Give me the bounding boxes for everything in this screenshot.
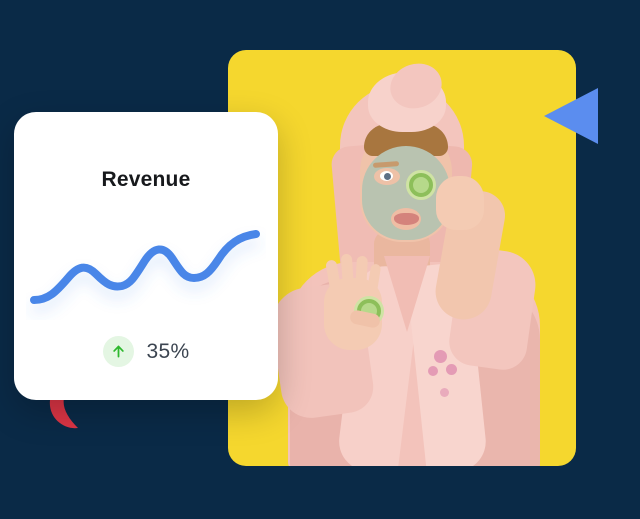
cucumber-slice-core <box>413 177 429 193</box>
triangle-accent-icon <box>544 88 598 144</box>
poster-canvas: Revenue 35% <box>0 0 640 519</box>
model-photo <box>228 50 576 466</box>
revenue-sparkline-chart <box>26 220 266 320</box>
arrow-up-icon <box>111 344 126 359</box>
sparkline-path <box>34 234 256 300</box>
robe-flower-embroidery <box>446 364 457 375</box>
robe-flower-embroidery <box>434 350 447 363</box>
revenue-change-metric: 35% <box>14 336 278 367</box>
pupil-left <box>384 173 391 180</box>
robe-flower-embroidery <box>428 366 438 376</box>
robe-flower-embroidery <box>440 388 449 397</box>
metric-value: 35% <box>147 340 190 364</box>
trend-up-badge <box>103 336 134 367</box>
lips <box>394 213 419 225</box>
yellow-backdrop-panel <box>228 50 576 466</box>
card-title: Revenue <box>14 168 278 192</box>
hand-right <box>436 176 484 230</box>
revenue-stat-card[interactable]: Revenue 35% <box>14 112 278 400</box>
